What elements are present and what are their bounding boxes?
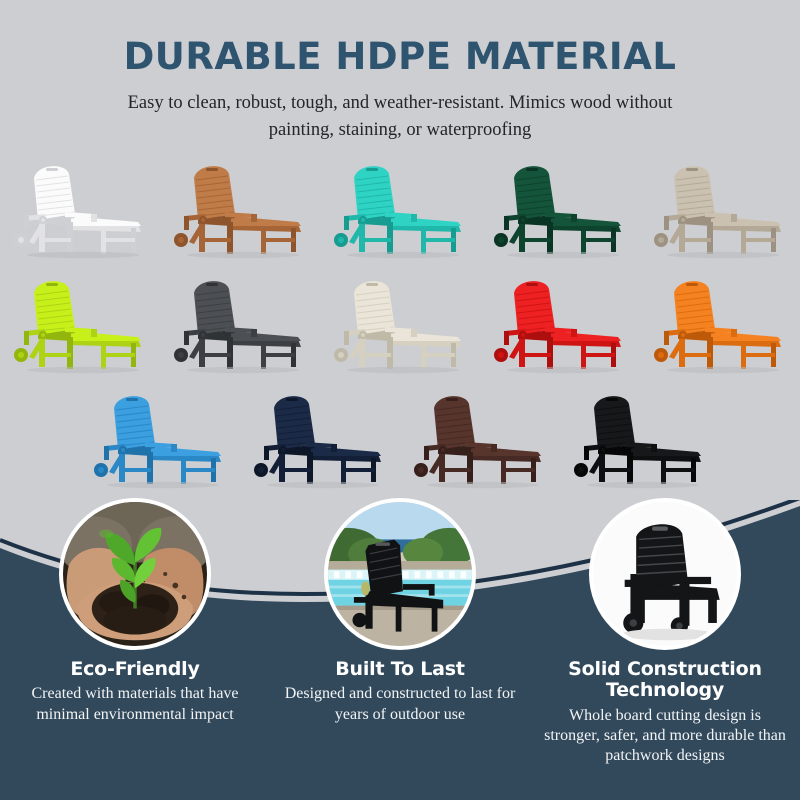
chaise-lounge-red bbox=[485, 269, 635, 377]
hands-holding-seedling-icon bbox=[63, 502, 207, 646]
chair-swatch-dark-gray[interactable] bbox=[160, 265, 320, 380]
chaise-lounge-white bbox=[5, 154, 155, 262]
chair-swatch-orange[interactable] bbox=[640, 265, 800, 380]
chair-swatch-white[interactable] bbox=[0, 150, 160, 265]
chair-swatch-red[interactable] bbox=[480, 265, 640, 380]
chaise-lounge-light-blue bbox=[85, 384, 235, 492]
feature-description: Created with materials that have minimal… bbox=[2, 684, 268, 725]
chair-swatch-brown[interactable] bbox=[400, 380, 560, 495]
page-subtitle: Easy to clean, robust, tough, and weathe… bbox=[120, 90, 680, 145]
chair-swatch-ivory[interactable] bbox=[320, 265, 480, 380]
chaise-lounge-ivory bbox=[325, 269, 475, 377]
feature-title: Solid Construction Technology bbox=[532, 659, 798, 702]
chaise-lounge-dark-green bbox=[485, 154, 635, 262]
infographic-page: DURABLE HDPE MATERIAL Easy to clean, rob… bbox=[0, 0, 800, 800]
chair-swatch-turquoise[interactable] bbox=[320, 150, 480, 265]
feature-built-to-last: Built To Last Designed and constructed t… bbox=[267, 498, 533, 725]
chair-row-1 bbox=[0, 150, 800, 265]
chair-row-3 bbox=[0, 380, 800, 495]
chair-swatch-teak[interactable] bbox=[160, 150, 320, 265]
feature-eco-friendly: Eco-Friendly Created with materials that… bbox=[2, 498, 268, 725]
chair-swatch-dark-green[interactable] bbox=[480, 150, 640, 265]
chair-swatch-navy[interactable] bbox=[240, 380, 400, 495]
feature-title: Built To Last bbox=[267, 659, 533, 680]
chaise-lounge-lime-green bbox=[5, 269, 155, 377]
chaise-lounge-orange bbox=[645, 269, 795, 377]
black-chaise-by-pool-icon bbox=[328, 502, 472, 646]
header: DURABLE HDPE MATERIAL Easy to clean, rob… bbox=[0, 0, 800, 145]
feature-image-circle bbox=[589, 498, 741, 650]
feature-description: Whole board cutting design is stronger, … bbox=[532, 706, 798, 767]
feature-description: Designed and constructed to last for yea… bbox=[267, 684, 533, 725]
chair-swatch-lime-green[interactable] bbox=[0, 265, 160, 380]
chaise-lounge-turquoise bbox=[325, 154, 475, 262]
chaise-lounge-teak bbox=[165, 154, 315, 262]
chair-swatch-light-blue[interactable] bbox=[80, 380, 240, 495]
chaise-lounge-weathered-beige bbox=[645, 154, 795, 262]
feature-image-circle bbox=[324, 498, 476, 650]
black-chaise-construction-icon bbox=[593, 502, 737, 646]
feature-columns: Eco-Friendly Created with materials that… bbox=[0, 498, 800, 800]
chaise-lounge-navy bbox=[245, 384, 395, 492]
chair-swatch-black[interactable] bbox=[560, 380, 720, 495]
feature-image-circle bbox=[59, 498, 211, 650]
chair-row-2 bbox=[0, 265, 800, 380]
chaise-lounge-black bbox=[565, 384, 715, 492]
chair-color-grid bbox=[0, 150, 800, 495]
chair-swatch-weathered-beige[interactable] bbox=[640, 150, 800, 265]
feature-title: Eco-Friendly bbox=[2, 659, 268, 680]
chaise-lounge-dark-gray bbox=[165, 269, 315, 377]
page-title: DURABLE HDPE MATERIAL bbox=[0, 38, 800, 77]
chaise-lounge-brown bbox=[405, 384, 555, 492]
feature-solid-construction: Solid Construction Technology Whole boar… bbox=[532, 498, 798, 767]
